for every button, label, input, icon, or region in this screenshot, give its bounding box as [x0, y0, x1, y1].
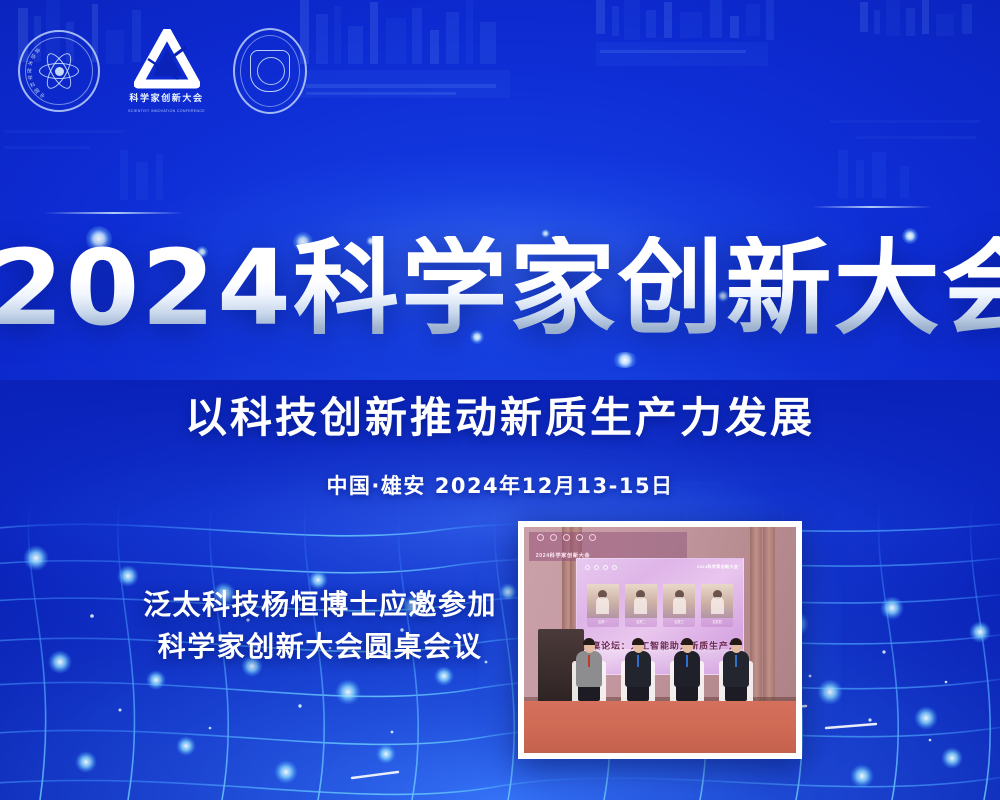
photo-stage-floor — [524, 701, 796, 753]
screen-header-title: 2024科学家创新大会 — [697, 564, 738, 570]
triangle-mark-subcaption: SCIENTIST INNOVATION CONFERENCE — [128, 109, 205, 113]
caption-line-2: 科学家创新大会圆桌会议 — [110, 626, 530, 668]
conference-poster: 中国科学技术协会 科学家创新大会 SCIENTIST INNOVATION CO… — [0, 0, 1000, 800]
panelist-hair — [730, 638, 742, 645]
title-block: 2024科学家创新大会 — [0, 236, 1000, 340]
panelist-hair — [583, 638, 595, 645]
sparkle-10 — [612, 352, 638, 368]
screen-icon-2 — [594, 565, 599, 570]
xiongan-seal-icon — [233, 28, 307, 114]
page-title: 2024科学家创新大会 — [0, 236, 1000, 340]
speaker-name: 嘉宾一 — [587, 618, 619, 625]
logo-xiongan — [233, 28, 307, 114]
banner-icon-2 — [550, 534, 557, 541]
cast-atom-icon — [37, 49, 81, 93]
photo-room-banner: 2024科学家创新大会 — [529, 532, 687, 561]
speaker-portrait — [587, 584, 619, 618]
speaker-portrait — [701, 584, 733, 618]
banner-icon-4 — [576, 534, 583, 541]
panelist-badge — [686, 655, 688, 667]
speaker-portrait — [663, 584, 695, 618]
speaker-card: 嘉宾二 — [625, 584, 657, 627]
event-photo: 2024科学家创新大会 2024科学家创新大会 嘉宾一 — [524, 527, 796, 753]
xiongan-shield-icon — [250, 50, 290, 92]
triangle-mark-caption: 科学家创新大会 — [129, 94, 203, 104]
banner-icon-1 — [537, 534, 544, 541]
screen-icon-3 — [603, 565, 608, 570]
speaker-portrait — [625, 584, 657, 618]
panelist-badge — [637, 655, 639, 667]
speaker-name: 嘉宾二 — [625, 618, 657, 625]
screen-speaker-cards: 嘉宾一 嘉宾二 嘉宾三 嘉宾四 — [587, 584, 734, 627]
triangle-mark-icon — [134, 29, 200, 89]
panelist-hair — [681, 638, 693, 645]
location-date-line: 中国·雄安 2024年12月13-15日 — [0, 470, 1000, 500]
speaker-name: 嘉宾四 — [701, 618, 733, 625]
logo-conference-mark: 科学家创新大会 SCIENTIST INNOVATION CONFERENCE — [128, 29, 205, 113]
screen-icon-row — [585, 565, 617, 570]
caption-line-1: 泛太科技杨恒博士应邀参加 — [110, 584, 530, 626]
light-streak-1 — [44, 212, 184, 214]
screen-header: 2024科学家创新大会 — [697, 564, 738, 570]
speaker-card: 嘉宾一 — [587, 584, 619, 627]
panelist-badge — [735, 655, 737, 667]
panelist-hair — [632, 638, 644, 645]
logo-cast: 中国科学技术协会 — [18, 30, 100, 112]
cast-seal-icon: 中国科学技术协会 — [18, 30, 100, 112]
event-photo-frame[interactable]: 2024科学家创新大会 2024科学家创新大会 嘉宾一 — [518, 521, 802, 759]
light-streak-2 — [812, 206, 932, 208]
speaker-name: 嘉宾三 — [663, 618, 695, 625]
screen-icon-1 — [585, 565, 590, 570]
panelist-badge — [588, 655, 590, 667]
photo-wood-panel-right2 — [763, 527, 775, 703]
banner-icon-5 — [589, 534, 596, 541]
subtitle: 以科技创新推动新质生产力发展 — [0, 384, 1000, 445]
event-caption: 泛太科技杨恒博士应邀参加 科学家创新大会圆桌会议 — [110, 584, 530, 668]
photo-banner-icons — [537, 534, 596, 541]
speaker-card: 嘉宾四 — [701, 584, 733, 627]
banner-icon-3 — [563, 534, 570, 541]
logo-row: 中国科学技术协会 科学家创新大会 SCIENTIST INNOVATION CO… — [18, 28, 307, 114]
screen-icon-4 — [612, 565, 617, 570]
speaker-card: 嘉宾三 — [663, 584, 695, 627]
